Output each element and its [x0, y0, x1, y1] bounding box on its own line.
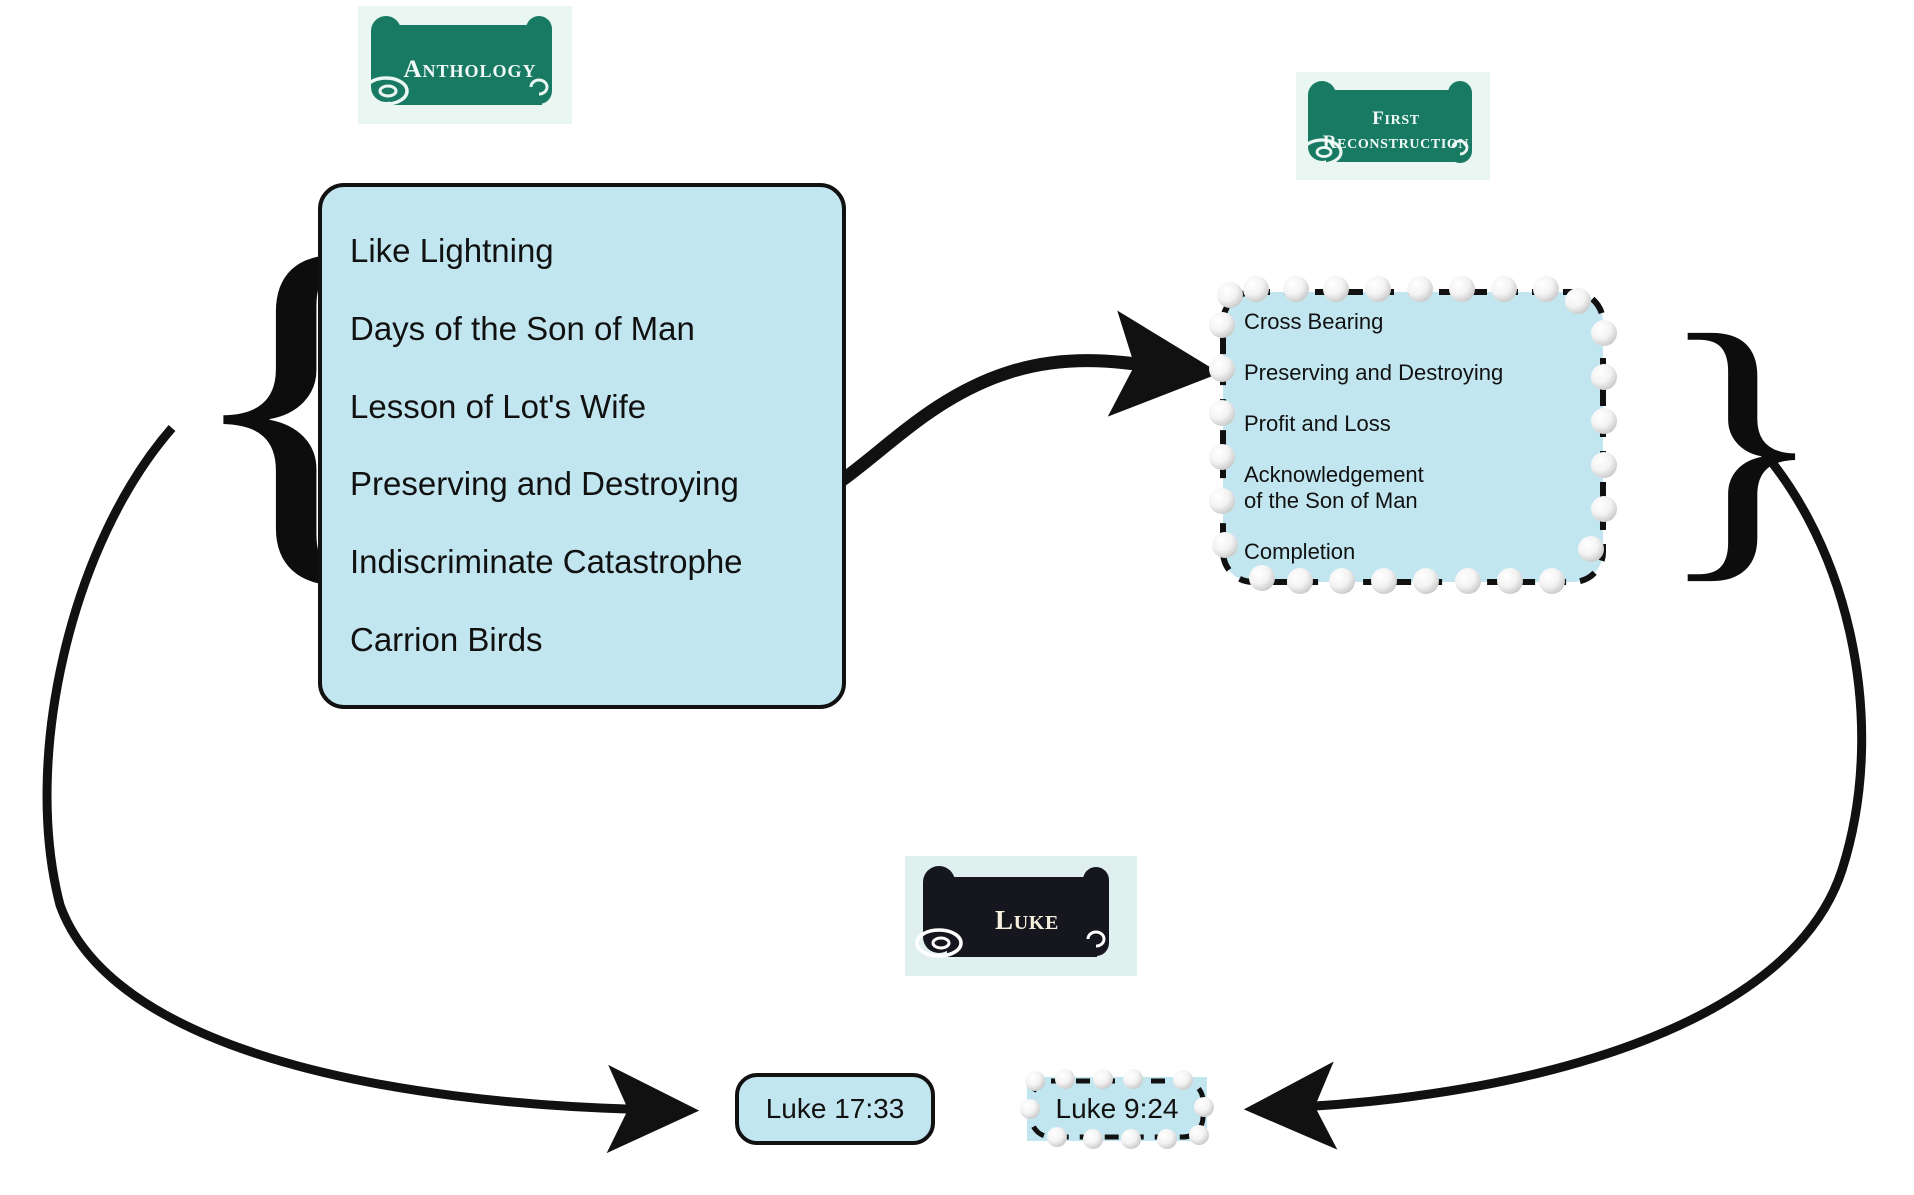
luke-17-33-chip[interactable]: Luke 17:33 [735, 1073, 935, 1145]
scroll-icon: ANTHOLOGY [358, 6, 572, 124]
anthology-scroll-badge: ANTHOLOGY [358, 6, 572, 124]
first-reconstruction-list-box[interactable]: Cross Bearing Preserving and Destroying … [1218, 287, 1608, 587]
luke-scroll-badge: LUKE [905, 856, 1137, 976]
list-item: Days of the Son of Man [350, 311, 842, 348]
list-item: Preserving and Destroying [1244, 360, 1608, 386]
luke-9-24-chip[interactable]: Luke 9:24 [1027, 1077, 1207, 1141]
first-reconstruction-scroll-badge: FIRST RECONSTRUCTION [1296, 72, 1490, 180]
list-item: Indiscriminate Catastrophe [350, 544, 842, 581]
list-item: Cross Bearing [1244, 309, 1608, 335]
list-item: Carrion Birds [350, 622, 842, 659]
right-curly-brace: } [1655, 290, 1828, 590]
list-item: Profit and Loss [1244, 411, 1608, 437]
luke-17-33-label: Luke 17:33 [766, 1093, 905, 1125]
anthology-item-list: Like Lightning Days of the Son of Man Le… [322, 187, 842, 705]
luke-9-24-label: Luke 9:24 [1056, 1093, 1179, 1125]
first-reconstruction-item-list: Cross Bearing Preserving and Destroying … [1218, 287, 1608, 587]
scroll-icon: LUKE [905, 856, 1137, 976]
list-item: Like Lightning [350, 233, 842, 270]
edge-anthology-to-reconstruction [810, 361, 1185, 500]
list-item: Acknowledgement of the Son of Man [1244, 462, 1608, 514]
list-item: Preserving and Destroying [350, 466, 842, 503]
diagram-canvas: { } ANTHOLOGY [0, 0, 1914, 1195]
list-item: Completion [1244, 539, 1608, 565]
anthology-list-box[interactable]: Like Lightning Days of the Son of Man Le… [318, 183, 846, 709]
anthology-scroll-label: ANTHOLOGY [403, 56, 536, 83]
list-item: Lesson of Lot's Wife [350, 389, 842, 426]
scroll-icon: FIRST RECONSTRUCTION [1296, 72, 1490, 180]
